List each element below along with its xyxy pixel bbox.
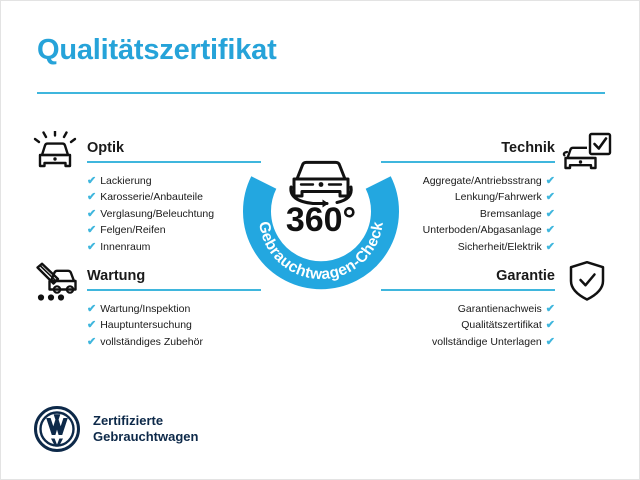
check-icon: ✔ bbox=[87, 206, 96, 222]
check-icon: ✔ bbox=[546, 317, 555, 333]
list-item: vollständige Unterlagen✔ bbox=[381, 334, 555, 350]
check-icon: ✔ bbox=[87, 317, 96, 333]
list-item: ✔vollständiges Zubehör bbox=[87, 334, 261, 350]
list-item-label: Aggregate/Antriebsstrang bbox=[423, 175, 542, 187]
list-item-label: vollständiges Zubehör bbox=[100, 336, 203, 348]
wrench-car-icon bbox=[29, 259, 81, 303]
check-icon: ✔ bbox=[87, 173, 96, 189]
list-item-label: Felgen/Reifen bbox=[100, 224, 165, 236]
page-title: Qualitätszertifikat bbox=[37, 35, 605, 67]
check-icon: ✔ bbox=[87, 189, 96, 205]
list-item-label: Qualitätszertifikat bbox=[461, 319, 542, 331]
list-item-label: Lenkung/Fahrwerk bbox=[455, 191, 542, 203]
check-icon: ✔ bbox=[87, 334, 96, 350]
car-checkbox-icon bbox=[561, 131, 613, 175]
check-icon: ✔ bbox=[87, 301, 96, 317]
list-item-label: Wartung/Inspektion bbox=[100, 303, 190, 315]
list-item-label: Innenraum bbox=[100, 241, 150, 253]
footer-line-1: Zertifizierte bbox=[93, 413, 198, 429]
check-icon: ✔ bbox=[87, 222, 96, 238]
list-item-label: Verglasung/Beleuchtung bbox=[100, 208, 214, 220]
list-item-label: Garantienachweis bbox=[458, 303, 542, 315]
list-item: ✔Hauptuntersuchung bbox=[87, 317, 261, 333]
car-shine-icon bbox=[29, 131, 81, 175]
header-divider bbox=[37, 92, 605, 94]
quality-certificate-card: Qualitätszertifikat Optik bbox=[0, 0, 640, 480]
check-icon: ✔ bbox=[546, 239, 555, 255]
badge-center-label: 360° bbox=[286, 201, 356, 239]
volkswagen-logo bbox=[33, 405, 81, 453]
check-icon: ✔ bbox=[546, 301, 555, 317]
footer-brand: Zertifizierte Gebrauchtwagen bbox=[33, 405, 198, 453]
list-item-label: Bremsanlage bbox=[480, 208, 542, 220]
list-item-label: Hauptuntersuchung bbox=[100, 319, 192, 331]
list-item-label: vollständige Unterlagen bbox=[432, 336, 542, 348]
360-check-badge: 360° Gebrauchtwagen-Check bbox=[229, 125, 413, 309]
check-icon: ✔ bbox=[87, 239, 96, 255]
check-icon: ✔ bbox=[546, 222, 555, 238]
list-item-label: Karosserie/Anbauteile bbox=[100, 191, 203, 203]
list-item-label: Unterboden/Abgasanlage bbox=[423, 224, 542, 236]
check-icon: ✔ bbox=[546, 334, 555, 350]
check-icon: ✔ bbox=[546, 206, 555, 222]
footer-line-2: Gebrauchtwagen bbox=[93, 429, 198, 445]
shield-check-icon bbox=[561, 259, 613, 303]
list-item-label: Sicherheit/Elektrik bbox=[458, 241, 542, 253]
footer-brand-text: Zertifizierte Gebrauchtwagen bbox=[93, 413, 198, 445]
list-item: Qualitätszertifikat✔ bbox=[381, 317, 555, 333]
check-icon: ✔ bbox=[546, 173, 555, 189]
header: Qualitätszertifikat bbox=[37, 35, 605, 67]
list-item-label: Lackierung bbox=[100, 175, 151, 187]
check-icon: ✔ bbox=[546, 189, 555, 205]
